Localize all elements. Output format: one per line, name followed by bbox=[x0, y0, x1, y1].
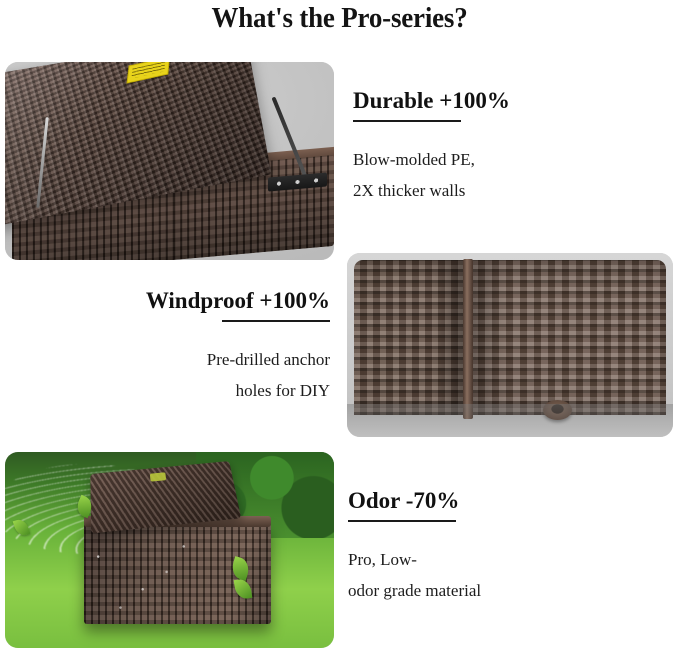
feature-windproof-heading: Windproof +100% bbox=[120, 288, 330, 314]
feature-durable-underline bbox=[353, 120, 461, 122]
wicker-face-right bbox=[471, 260, 667, 415]
feature-odor-underline bbox=[348, 520, 456, 522]
feature-odor: Odor -70% Pro, Low- odor grade material bbox=[348, 488, 481, 606]
wicker-scene-background bbox=[347, 253, 673, 437]
wicker-face-left bbox=[354, 260, 465, 415]
page-title: What's the Pro-series? bbox=[24, 2, 655, 35]
lawn-box-airflow-photo bbox=[5, 452, 334, 648]
feature-windproof-body: Pre-drilled anchor holes for DIY bbox=[120, 344, 330, 406]
feature-durable: Durable +100% Blow-molded PE, 2X thicker… bbox=[353, 88, 510, 206]
feature-odor-body-line-2: odor grade material bbox=[348, 575, 481, 606]
feature-durable-body-line-1: Blow-molded PE, bbox=[353, 144, 510, 175]
feature-windproof-underline bbox=[222, 320, 330, 322]
feature-durable-heading: Durable +100% bbox=[353, 88, 510, 114]
wicker-corner-photo bbox=[347, 253, 673, 437]
lawn-background bbox=[5, 452, 334, 648]
corner-edge bbox=[463, 259, 473, 419]
feature-odor-heading: Odor -70% bbox=[348, 488, 481, 514]
feature-odor-body: Pro, Low- odor grade material bbox=[348, 544, 481, 606]
feature-windproof-body-line-2: holes for DIY bbox=[120, 375, 330, 406]
feature-windproof: Windproof +100% Pre-drilled anchor holes… bbox=[120, 288, 330, 406]
open-deck-box-photo bbox=[5, 62, 334, 260]
ground-shadow bbox=[347, 404, 673, 437]
feature-durable-body-line-2: 2X thicker walls bbox=[353, 175, 510, 206]
feature-durable-body: Blow-molded PE, 2X thicker walls bbox=[353, 144, 510, 206]
studio-background bbox=[5, 62, 334, 260]
feature-odor-body-line-1: Pro, Low- bbox=[348, 544, 481, 575]
feature-windproof-body-line-1: Pre-drilled anchor bbox=[120, 344, 330, 375]
